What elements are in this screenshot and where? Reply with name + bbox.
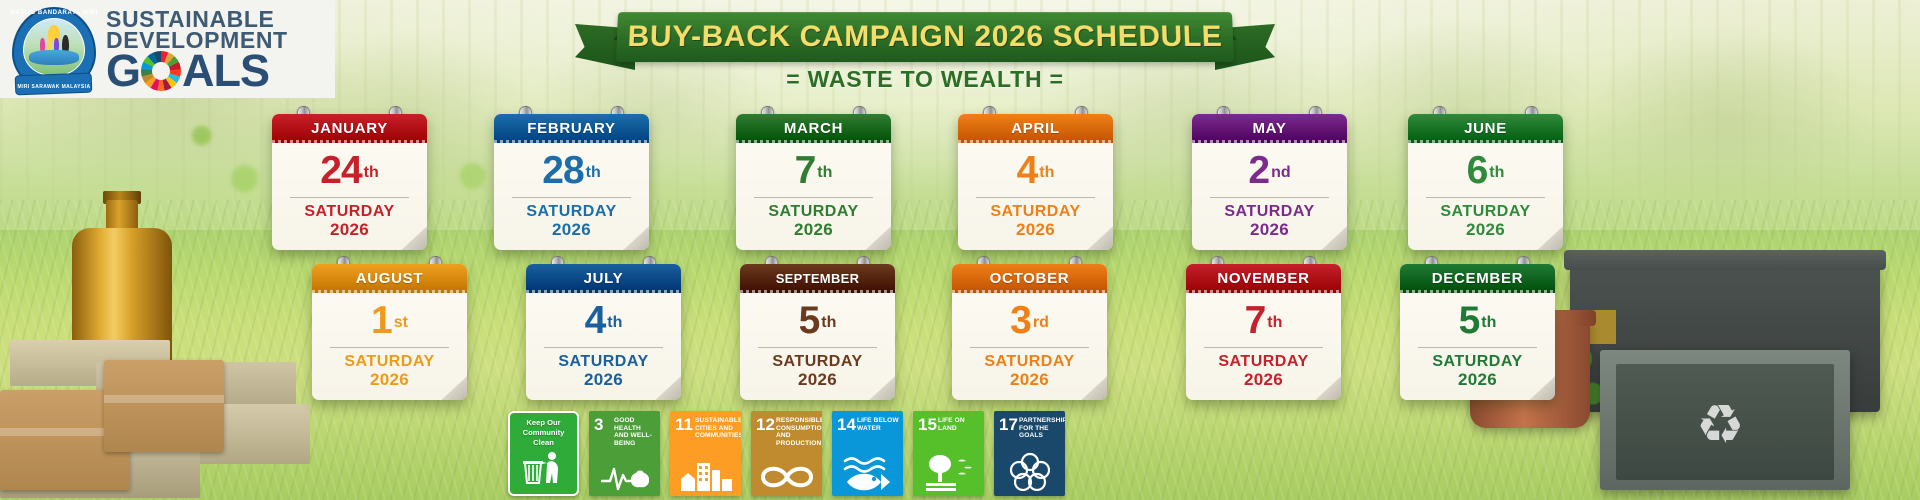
- calendar-body: 28thSATURDAY2026: [494, 143, 649, 250]
- keep-clean-line-2: Community: [512, 428, 575, 438]
- calendar-day-number: 24: [320, 151, 361, 190]
- sdg-icon-strip: Keep Our Community Clean 3GOOD HEALTH AN…: [508, 411, 1065, 496]
- calendar-day-suffix: th: [364, 164, 379, 181]
- person-throwing-litter-in-bin-icon: [510, 451, 577, 490]
- calendar-year: 2026: [504, 221, 639, 240]
- sdg-goal-14[interactable]: 14LIFE BELOW WATER: [832, 411, 903, 496]
- calendar-day-suffix: st: [394, 314, 408, 331]
- calendar-divider: [1210, 197, 1329, 198]
- calendar-day-number: 4: [1017, 151, 1038, 190]
- calendar-year: 2026: [1196, 371, 1331, 390]
- sdg-goal-label: PARTNERSHIPS FOR THE GOALS: [1019, 417, 1062, 440]
- calendar-year: 2026: [322, 371, 457, 390]
- calendar-weekday: SATURDAY: [1196, 353, 1331, 371]
- calendar-day-row: 28th: [504, 151, 639, 190]
- calendar-day-number: 5: [799, 301, 820, 340]
- calendar-body: 5thSATURDAY2026: [740, 293, 895, 400]
- sdg-goal-label: LIFE ON LAND: [938, 417, 981, 432]
- calendar-weekday: SATURDAY: [1410, 353, 1545, 371]
- fish-waves-icon: [832, 455, 903, 491]
- calendar-month-label: JUNE: [1464, 120, 1507, 137]
- sdg-goal-number: 11: [675, 416, 693, 433]
- calendar-weekday: SATURDAY: [504, 203, 639, 221]
- calendar-body: 6thSATURDAY2026: [1408, 143, 1563, 250]
- calendar-divider: [758, 347, 877, 348]
- calendar-divider: [1204, 347, 1323, 348]
- calendar-card-december[interactable]: DECEMBER5thSATURDAY2026: [1400, 264, 1555, 400]
- calendar-card-july[interactable]: JULY4thSATURDAY2026: [526, 264, 681, 400]
- calendar-year: 2026: [1418, 221, 1553, 240]
- heartbeat-icon: [589, 463, 660, 491]
- calendar-divider: [290, 197, 409, 198]
- calendar-month-header: SEPTEMBER: [740, 264, 895, 293]
- calendar-month-label: NOVEMBER: [1217, 270, 1309, 287]
- sdg-goal-number: 3: [594, 416, 603, 433]
- calendar-day-row: 6th: [1418, 151, 1553, 190]
- calendar-weekday: SATURDAY: [1202, 203, 1337, 221]
- sdg-goal-label: RESPONSIBLE CONSUMPTION AND PRODUCTION: [776, 417, 819, 448]
- calendar-card-november[interactable]: NOVEMBER7thSATURDAY2026: [1186, 264, 1341, 400]
- calendar-day-number: 5: [1459, 301, 1480, 340]
- calendar-month-label: JANUARY: [311, 120, 388, 137]
- keep-our-community-clean-badge: Keep Our Community Clean: [508, 411, 579, 496]
- calendar-month-header: MAY: [1192, 114, 1347, 143]
- calendar-card-april[interactable]: APRIL4thSATURDAY2026: [958, 114, 1113, 250]
- sdg-goal-17[interactable]: 17PARTNERSHIPS FOR THE GOALS: [994, 411, 1065, 496]
- keep-clean-line-1: Keep Our: [512, 418, 575, 428]
- calendar-year: 2026: [750, 371, 885, 390]
- calendar-weekday: SATURDAY: [962, 353, 1097, 371]
- calendar-divider: [970, 347, 1089, 348]
- calendar-day-suffix: th: [1489, 164, 1504, 181]
- calendar-weekday: SATURDAY: [1418, 203, 1553, 221]
- calendar-month-label: SEPTEMBER: [776, 271, 860, 286]
- calendar-day-row: 4th: [536, 301, 671, 340]
- calendar-year: 2026: [1202, 221, 1337, 240]
- sdg-goal-number: 17: [999, 416, 1018, 433]
- calendar-body: 3rdSATURDAY2026: [952, 293, 1107, 400]
- calendar-month-header: OCTOBER: [952, 264, 1107, 293]
- calendar-year: 2026: [962, 371, 1097, 390]
- calendar-day-number: 3: [1010, 301, 1031, 340]
- calendar-weekday: SATURDAY: [746, 203, 881, 221]
- calendar-divider: [754, 197, 873, 198]
- calendar-month-header: DECEMBER: [1400, 264, 1555, 293]
- calendar-body: 4thSATURDAY2026: [526, 293, 681, 400]
- calendar-year: 2026: [746, 221, 881, 240]
- calendar-card-october[interactable]: OCTOBER3rdSATURDAY2026: [952, 264, 1107, 400]
- calendar-month-label: APRIL: [1011, 120, 1060, 137]
- calendar-day-row: 3rd: [962, 301, 1097, 340]
- sdg-goal-number: 12: [756, 416, 775, 433]
- calendar-month-header: JANUARY: [272, 114, 427, 143]
- calendar-body: 24thSATURDAY2026: [272, 143, 427, 250]
- calendar-year: 2026: [968, 221, 1103, 240]
- calendar-month-header: JULY: [526, 264, 681, 293]
- calendar-day-number: 28: [542, 151, 583, 190]
- calendar-day-suffix: th: [1267, 314, 1282, 331]
- calendar-month-label: JULY: [584, 270, 624, 287]
- sdg-goal-label: GOOD HEALTH AND WELL-BEING: [614, 417, 657, 448]
- sdg-goal-15[interactable]: 15LIFE ON LAND: [913, 411, 984, 496]
- calendar-card-august[interactable]: AUGUST1stSATURDAY2026: [312, 264, 467, 400]
- calendar-day-suffix: th: [1481, 314, 1496, 331]
- calendar-card-june[interactable]: JUNE6thSATURDAY2026: [1408, 114, 1563, 250]
- calendar-month-header: NOVEMBER: [1186, 264, 1341, 293]
- calendar-month-label: DECEMBER: [1432, 270, 1523, 287]
- calendar-divider: [512, 197, 631, 198]
- calendar-month-label: OCTOBER: [990, 270, 1070, 287]
- sdg-goal-number: 14: [837, 416, 856, 433]
- calendar-day-row: 4th: [968, 151, 1103, 190]
- calendar-month-header: FEBRUARY: [494, 114, 649, 143]
- calendar-day-row: 24th: [282, 151, 417, 190]
- calendar-day-suffix: th: [1039, 164, 1054, 181]
- calendar-day-row: 5th: [750, 301, 885, 340]
- calendar-card-january[interactable]: JANUARY24thSATURDAY2026: [272, 114, 427, 250]
- calendar-weekday: SATURDAY: [282, 203, 417, 221]
- calendar-day-row: 7th: [1196, 301, 1331, 340]
- sdg-goal-12[interactable]: 12RESPONSIBLE CONSUMPTION AND PRODUCTION: [751, 411, 822, 496]
- calendar-divider: [976, 197, 1095, 198]
- calendar-day-row: 5th: [1410, 301, 1545, 340]
- calendar-day-suffix: nd: [1271, 164, 1291, 181]
- calendar-divider: [544, 347, 663, 348]
- calendar-month-label: MARCH: [784, 120, 843, 137]
- calendar-day-suffix: th: [821, 314, 836, 331]
- calendar-divider: [1418, 347, 1537, 348]
- calendar-weekday: SATURDAY: [968, 203, 1103, 221]
- calendar-day-number: 7: [795, 151, 816, 190]
- calendar-day-row: 7th: [746, 151, 881, 190]
- calendar-weekday: SATURDAY: [322, 353, 457, 371]
- calendar-weekday: SATURDAY: [536, 353, 671, 371]
- calendar-body: 1stSATURDAY2026: [312, 293, 467, 400]
- calendar-month-label: FEBRUARY: [527, 120, 615, 137]
- sdg-goal-label: SUSTAINABLE CITIES AND COMMUNITIES: [695, 417, 738, 440]
- calendar-body: 7thSATURDAY2026: [736, 143, 891, 250]
- sdg-goal-number: 15: [918, 416, 937, 433]
- calendar-card-may[interactable]: MAY2ndSATURDAY2026: [1192, 114, 1347, 250]
- calendar-month-header: MARCH: [736, 114, 891, 143]
- calendar-card-march[interactable]: MARCH7thSATURDAY2026: [736, 114, 891, 250]
- city-buildings-icon: [670, 457, 741, 491]
- calendar-weekday: SATURDAY: [750, 353, 885, 371]
- calendar-month-header: JUNE: [1408, 114, 1563, 143]
- calendar-day-row: 1st: [322, 301, 457, 340]
- calendar-day-suffix: th: [817, 164, 832, 181]
- infinity-loop-icon: [751, 463, 822, 491]
- calendar-body: 5thSATURDAY2026: [1400, 293, 1555, 400]
- sdg-goal-3[interactable]: 3GOOD HEALTH AND WELL-BEING: [589, 411, 660, 496]
- sdg-goal-label: LIFE BELOW WATER: [857, 417, 900, 432]
- calendar-body: 2ndSATURDAY2026: [1192, 143, 1347, 250]
- calendar-day-number: 2: [1248, 151, 1269, 190]
- sdg-goal-11[interactable]: 11SUSTAINABLE CITIES AND COMMUNITIES: [670, 411, 741, 496]
- calendar-card-february[interactable]: FEBRUARY28thSATURDAY2026: [494, 114, 649, 250]
- calendar-year: 2026: [536, 371, 671, 390]
- calendar-year: 2026: [1410, 371, 1545, 390]
- calendar-day-suffix: th: [586, 164, 601, 181]
- calendar-body: 7thSATURDAY2026: [1186, 293, 1341, 400]
- calendar-month-label: AUGUST: [356, 270, 424, 287]
- calendar-body: 4thSATURDAY2026: [958, 143, 1113, 250]
- calendar-day-number: 6: [1467, 151, 1488, 190]
- keep-clean-line-3: Clean: [512, 438, 575, 448]
- calendar-day-suffix: rd: [1033, 314, 1049, 331]
- calendar-divider: [330, 347, 449, 348]
- calendar-month-header: APRIL: [958, 114, 1113, 143]
- calendar-day-row: 2nd: [1202, 151, 1337, 190]
- calendar-day-number: 4: [585, 301, 606, 340]
- interlocking-circles-icon: [994, 451, 1065, 491]
- calendar-month-header: AUGUST: [312, 264, 467, 293]
- calendar-card-september[interactable]: SEPTEMBER5thSATURDAY2026: [740, 264, 895, 400]
- calendar-year: 2026: [282, 221, 417, 240]
- tree-birds-icon: [913, 453, 984, 491]
- calendar-day-suffix: th: [607, 314, 622, 331]
- calendar-month-label: MAY: [1252, 120, 1286, 137]
- calendar-day-number: 7: [1245, 301, 1266, 340]
- calendar-day-number: 1: [371, 301, 392, 340]
- calendar-divider: [1426, 197, 1545, 198]
